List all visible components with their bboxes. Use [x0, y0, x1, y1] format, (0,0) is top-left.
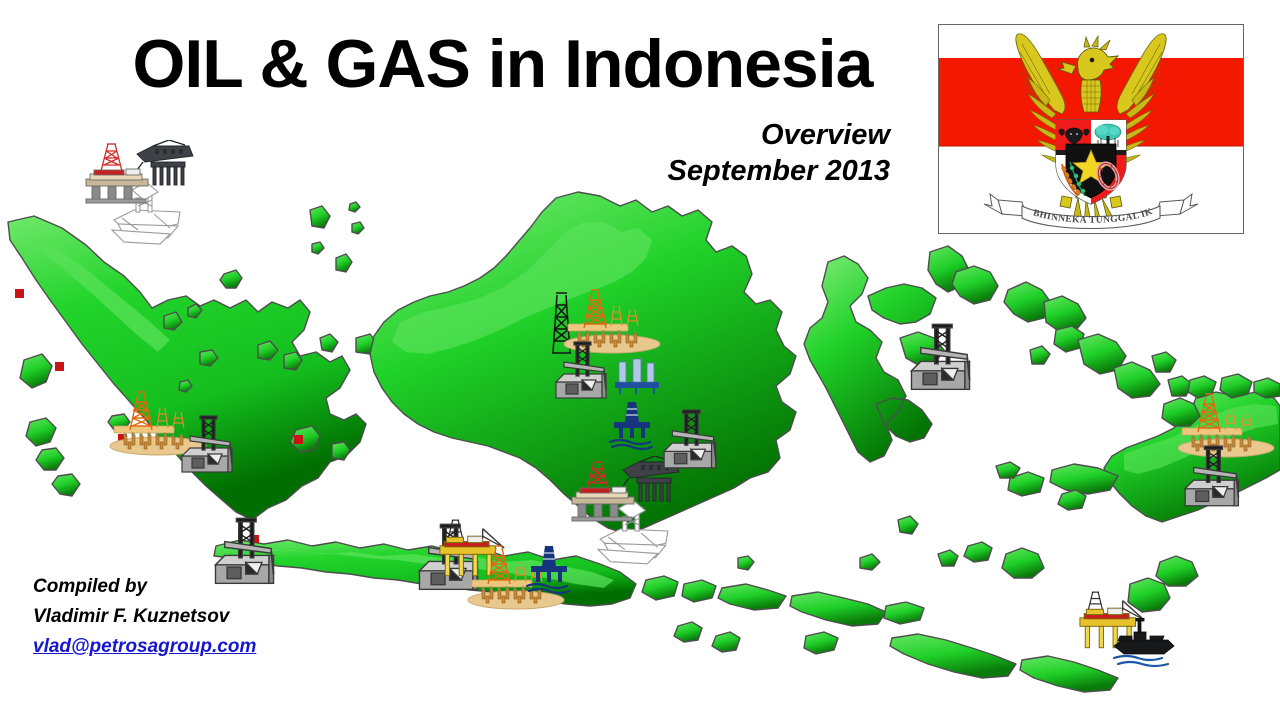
offshore-platform-icon — [608, 400, 656, 452]
subtitle-block: Overview September 2013 — [0, 118, 890, 190]
offshore-platform-icon — [612, 356, 662, 396]
title-block: OIL & GAS in Indonesia — [0, 30, 895, 99]
pumpjack-icon — [552, 340, 616, 402]
semisub-platform-icon — [570, 461, 640, 523]
credit-block: Compiled by Vladimir F. Kuznetsov vlad@p… — [33, 572, 256, 662]
subtitle-date: September 2013 — [0, 154, 890, 190]
page-title: OIL & GAS in Indonesia — [0, 30, 895, 99]
indonesia-flag-with-emblem: BHINNEKA TUNGGAL IKA — [938, 24, 1244, 234]
subtitle-overview: Overview — [0, 118, 890, 154]
credit-email-link[interactable]: vlad@petrosagroup.com — [33, 636, 256, 657]
pumpjack-icon — [906, 322, 982, 394]
credit-compiled-by: Compiled by — [33, 572, 256, 602]
pumpjack-icon — [1180, 444, 1250, 510]
pumpjack-icon — [660, 408, 726, 472]
slide-canvas: OIL & GAS in Indonesia Overview Septembe… — [0, 0, 1280, 720]
offshore-platform-icon — [525, 544, 573, 596]
credit-author-name: Vladimir F. Kuznetsov — [33, 602, 256, 632]
drillship-icon — [1110, 618, 1178, 668]
pumpjack-icon — [178, 414, 242, 476]
